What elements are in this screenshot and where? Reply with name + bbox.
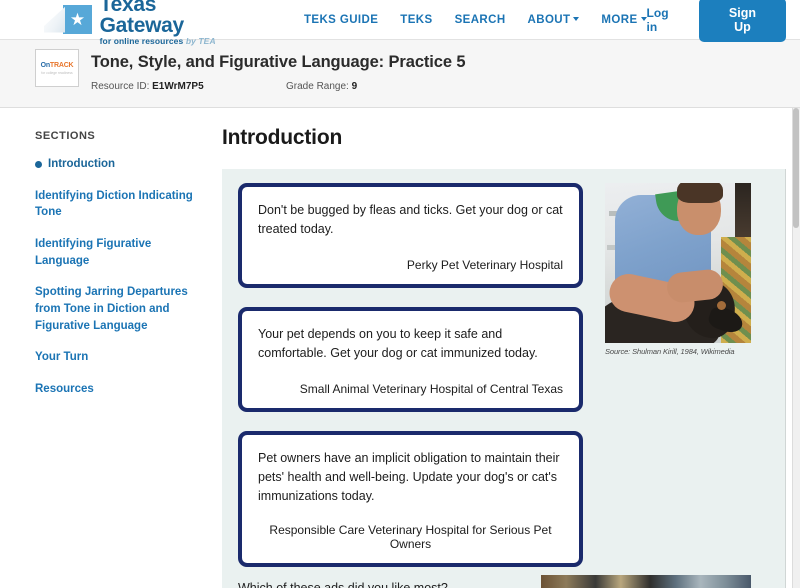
chevron-down-icon [573, 17, 579, 21]
ontrack-tagline: for college readiness [41, 71, 73, 75]
sections-sidebar: SECTIONS Introduction Identifying Dictio… [0, 108, 216, 588]
sidebar-item-spotting-jarring-departures[interactable]: Spotting Jarring Departures from Tone in… [35, 284, 196, 334]
main-nav-links: TEKS GUIDE TEKS SEARCH ABOUT MORE [304, 14, 647, 26]
ad-box-1: Don't be bugged by fleas and ticks. Get … [238, 183, 583, 288]
sidebar-item-identifying-diction-indicating-tone[interactable]: Identifying Diction Indicating Tone [35, 188, 196, 221]
page-title: Tone, Style, and Figurative Language: Pr… [91, 53, 466, 72]
ad-box-2: Your pet depends on you to keep it safe … [238, 307, 583, 412]
signup-button[interactable]: Sign Up [699, 0, 786, 42]
figure-caption: Source: Shulman Kirill, 1984, Wikimedia [605, 347, 751, 356]
star-icon: ★ [63, 5, 91, 34]
nav-item-teks-guide-label: TEKS GUIDE [304, 14, 378, 26]
resource-header: OnTRACK for college readiness Tone, Styl… [0, 40, 800, 108]
nav-item-teks-guide[interactable]: TEKS GUIDE [304, 14, 378, 26]
site-logo[interactable]: ★ Texas Gateway for online resources by … [44, 0, 242, 45]
content-heading: Introduction [222, 126, 786, 150]
grade-range-value: 9 [352, 81, 358, 92]
nav-item-about-label: ABOUT [528, 14, 571, 26]
sidebar-item-identifying-diction-indicating-tone-label: Identifying Diction Indicating Tone [35, 190, 193, 219]
nav-item-more-label: MORE [601, 14, 637, 26]
ad-box-3-text: Pet owners have an implicit obligation t… [258, 449, 563, 507]
ad-box-3: Pet owners have an implicit obligation t… [238, 431, 583, 567]
photo-dark-edge [735, 183, 751, 241]
sidebar-item-identifying-figurative-language-label: Identifying Figurative Language [35, 238, 151, 267]
ad-box-1-attribution: Perky Pet Veterinary Hospital [258, 258, 563, 272]
ad-box-2-attribution: Small Animal Veterinary Hospital of Cent… [258, 382, 563, 396]
bullet-dot-icon [35, 161, 42, 168]
page-scrollbar[interactable] [792, 108, 800, 588]
main-content: Introduction [216, 108, 800, 588]
photo-vet-hair [677, 183, 723, 203]
nav-item-teks-label: TEKS [400, 14, 432, 26]
grade-range-field: Grade Range: 9 [286, 81, 357, 92]
top-navigation-bar: ★ Texas Gateway for online resources by … [0, 0, 800, 40]
resource-id-field: Resource ID: E1WrM7P5 [91, 81, 286, 92]
sidebar-item-resources[interactable]: Resources [35, 381, 196, 398]
page-body: SECTIONS Introduction Identifying Dictio… [0, 108, 800, 588]
nav-item-search[interactable]: SEARCH [455, 14, 506, 26]
nav-item-about[interactable]: ABOUT [528, 14, 580, 26]
ontrack-badge-icon: OnTRACK for college readiness [35, 49, 79, 87]
sidebar-item-introduction[interactable]: Introduction [35, 156, 196, 173]
grade-range-label: Grade Range: [286, 81, 349, 92]
logo-subtitle-by: by TEA [186, 36, 216, 46]
logo-text-group: Texas Gateway for online resources by TE… [100, 0, 242, 45]
sidebar-item-identifying-figurative-language[interactable]: Identifying Figurative Language [35, 236, 196, 269]
sidebar-item-your-turn[interactable]: Your Turn [35, 349, 196, 366]
nav-item-search-label: SEARCH [455, 14, 506, 26]
ontrack-on: On [41, 62, 50, 69]
lesson-panel: Source: Shulman Kirill, 1984, Wikimedia … [222, 169, 786, 588]
star-glyph: ★ [70, 11, 85, 28]
below-fold-photo [541, 575, 751, 588]
ad-box-2-text: Your pet depends on you to keep it safe … [258, 325, 563, 364]
sidebar-item-spotting-jarring-departures-label: Spotting Jarring Departures from Tone in… [35, 286, 188, 331]
sidebar-item-your-turn-label: Your Turn [35, 351, 88, 363]
ontrack-badge-text: OnTRACK [41, 62, 74, 69]
resource-header-text: Tone, Style, and Figurative Language: Pr… [91, 49, 466, 92]
ad-box-1-text: Don't be bugged by fleas and ticks. Get … [258, 201, 563, 240]
sidebar-item-introduction-label: Introduction [48, 158, 115, 170]
logo-subtitle-main: for online resources [100, 36, 184, 46]
ad-box-3-attribution: Responsible Care Veterinary Hospital for… [258, 523, 563, 551]
logo-subtitle: for online resources by TEA [100, 37, 242, 46]
account-actions: Log in Sign Up [647, 0, 786, 42]
resource-id-label: Resource ID: [91, 81, 149, 92]
photo-dog-marking [717, 301, 726, 310]
login-link[interactable]: Log in [647, 6, 681, 34]
veterinarian-photo [605, 183, 751, 343]
nav-item-more[interactable]: MORE [601, 14, 646, 26]
nav-item-teks[interactable]: TEKS [400, 14, 432, 26]
resource-id-value: E1WrM7P5 [152, 81, 204, 92]
logo-title: Texas Gateway [100, 0, 242, 36]
logo-swoosh-icon [44, 7, 65, 33]
sidebar-item-resources-label: Resources [35, 383, 94, 395]
sidebar-heading: SECTIONS [35, 130, 196, 142]
veterinarian-figure: Source: Shulman Kirill, 1984, Wikimedia [605, 183, 751, 356]
ontrack-track: TRACK [50, 62, 74, 69]
page-scrollbar-thumb[interactable] [793, 108, 799, 228]
below-fold-text: Which of these ads did you like most? [238, 579, 488, 588]
resource-metadata: Resource ID: E1WrM7P5 Grade Range: 9 [91, 81, 466, 92]
